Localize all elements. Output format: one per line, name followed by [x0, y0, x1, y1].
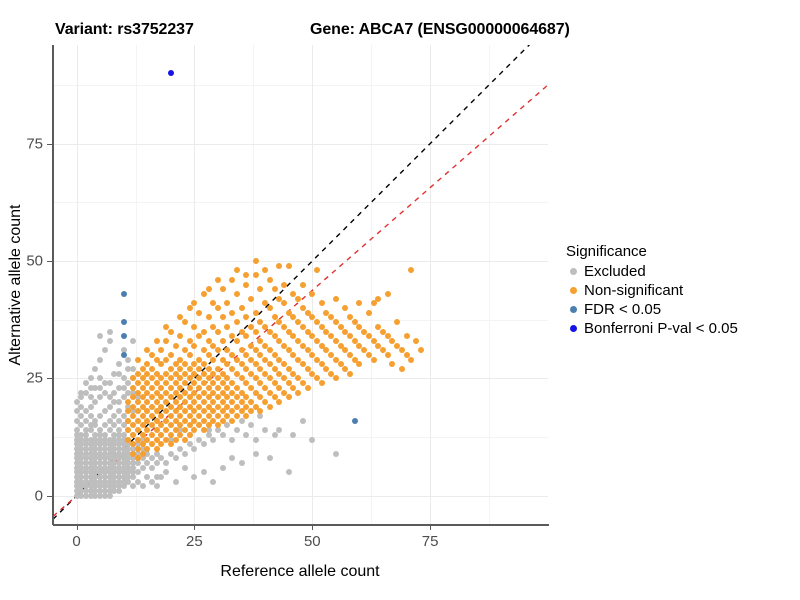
scatter-point	[121, 319, 127, 325]
x-axis-tick	[194, 525, 195, 530]
legend-items: ExcludedNon-significantFDR < 0.05Bonferr…	[566, 262, 796, 338]
scatter-point	[220, 432, 226, 438]
scatter-point	[286, 394, 292, 400]
scatter-point	[215, 305, 221, 311]
y-axis-tick-label: 0	[35, 487, 43, 504]
scatter-point	[187, 352, 193, 358]
scatter-point	[229, 418, 235, 424]
legend-item[interactable]: Bonferroni P-val < 0.05	[566, 319, 796, 338]
scatter-point	[201, 291, 207, 297]
scatter-point	[201, 329, 207, 335]
scatter-point	[191, 343, 197, 349]
scatter-point	[168, 352, 174, 358]
scatter-point	[102, 380, 108, 386]
legend-key-dot-icon	[570, 287, 577, 294]
scatter-point	[220, 286, 226, 292]
scatter-point	[154, 338, 160, 344]
legend-key-dot-icon	[570, 325, 577, 332]
scatter-point	[88, 394, 94, 400]
scatter-point	[253, 329, 259, 335]
scatter-point	[239, 305, 245, 311]
scatter-point	[253, 310, 259, 316]
y-axis-tick	[47, 378, 52, 379]
plot-root: Variant: rs3752237 Gene: ABCA7 (ENSG0000…	[0, 0, 800, 600]
legend: Significance ExcludedNon-significantFDR …	[566, 243, 796, 338]
legend-key-dot-icon	[570, 306, 577, 313]
scatter-point	[234, 427, 240, 433]
scatter-point	[371, 357, 377, 363]
scatter-point	[309, 437, 315, 443]
scatter-point	[220, 465, 226, 471]
y-axis-line	[52, 45, 54, 525]
scatter-point	[347, 371, 353, 377]
scatter-point	[107, 338, 113, 344]
scatter-point	[116, 371, 122, 377]
gene-title: Gene: ABCA7 (ENSG00000064687)	[310, 21, 570, 39]
scatter-point	[305, 385, 311, 391]
legend-item-label: FDR < 0.05	[584, 300, 661, 319]
scatter-point	[182, 437, 188, 443]
scatter-point	[234, 413, 240, 419]
scatter-point	[272, 286, 278, 292]
scatter-point	[295, 390, 301, 396]
scatter-point	[385, 352, 391, 358]
x-axis-tick	[312, 525, 313, 530]
x-axis-tick	[430, 525, 431, 530]
scatter-point	[173, 343, 179, 349]
scatter-point	[125, 437, 131, 443]
scatter-point	[267, 305, 273, 311]
y-axis-tick	[47, 261, 52, 262]
scatter-point	[130, 338, 136, 344]
scatter-point	[187, 305, 193, 311]
y-axis-tick-label: 75	[26, 135, 43, 152]
scatter-point	[253, 451, 259, 457]
scatter-point	[248, 296, 254, 302]
scatter-point	[215, 329, 221, 335]
y-axis-title: Alternative allele count	[7, 205, 25, 366]
scatter-point	[234, 291, 240, 297]
scatter-point	[281, 282, 287, 288]
scatter-point	[182, 465, 188, 471]
scatter-point	[210, 479, 216, 485]
variant-title: Variant: rs3752237	[55, 21, 194, 39]
scatter-point	[163, 357, 169, 363]
scatter-point	[163, 324, 169, 330]
scatter-point	[300, 282, 306, 288]
legend-item[interactable]: FDR < 0.05	[566, 300, 796, 319]
scatter-point	[300, 418, 306, 424]
x-axis-tick-label: 50	[304, 533, 321, 550]
scatter-point	[253, 272, 259, 278]
scatter-point	[295, 296, 301, 302]
scatter-point	[107, 329, 113, 335]
scatter-point	[210, 357, 216, 363]
scatter-point	[196, 310, 202, 316]
legend-item-label: Excluded	[584, 262, 646, 281]
scatter-point	[267, 277, 273, 283]
scatter-point	[182, 451, 188, 457]
legend-key-dot-icon	[570, 268, 577, 275]
scatter-point	[319, 380, 325, 386]
x-axis-tick	[77, 525, 78, 530]
scatter-point	[107, 394, 113, 400]
legend-item-label: Non-significant	[584, 281, 683, 300]
scatter-point	[121, 291, 127, 297]
scatter-point	[239, 460, 245, 466]
y-axis-tick	[47, 496, 52, 497]
scatter-point	[229, 277, 235, 283]
scatter-point	[385, 291, 391, 297]
x-axis-line	[53, 524, 549, 526]
scatter-point	[173, 479, 179, 485]
plot-panel	[53, 45, 548, 524]
scatter-point	[154, 460, 160, 466]
scatter-point	[78, 390, 84, 396]
scatter-point	[206, 286, 212, 292]
scatter-point	[399, 366, 405, 372]
scatter-point	[418, 347, 424, 353]
scatter-point	[404, 333, 410, 339]
scatter-point	[352, 418, 358, 424]
legend-item[interactable]: Non-significant	[566, 281, 796, 300]
scatter-point	[234, 319, 240, 325]
scatter-point	[168, 329, 174, 335]
scatter-point	[333, 451, 339, 457]
scatter-point	[116, 399, 122, 405]
scatter-point	[229, 437, 235, 443]
scatter-point	[121, 352, 127, 358]
scatter-point	[201, 427, 207, 433]
scatter-point	[121, 333, 127, 339]
scatter-point	[173, 455, 179, 461]
scatter-point	[97, 357, 103, 363]
scatter-point	[366, 310, 372, 316]
scatter-point	[276, 263, 282, 269]
scatter-point	[163, 338, 169, 344]
scatter-point	[97, 385, 103, 391]
legend-title: Significance	[566, 243, 796, 260]
scatter-point	[234, 338, 240, 344]
scatter-point	[408, 357, 414, 363]
legend-item-label: Bonferroni P-val < 0.05	[584, 319, 738, 338]
scatter-point	[413, 338, 419, 344]
y-axis-tick	[47, 144, 52, 145]
y-axis-tick-label: 50	[26, 253, 43, 270]
scatter-point	[371, 300, 377, 306]
scatter-point	[154, 446, 160, 452]
x-axis-title: Reference allele count	[220, 563, 379, 581]
x-axis-tick-label: 25	[186, 533, 203, 550]
x-axis-tick-label: 75	[422, 533, 439, 550]
scatter-point	[253, 437, 259, 443]
scatter-point	[243, 282, 249, 288]
scatter-point	[253, 258, 259, 264]
scatter-point	[229, 310, 235, 316]
scatter-point	[210, 437, 216, 443]
scatter-point	[333, 296, 339, 302]
scatter-point	[135, 357, 141, 363]
x-axis-tick-label: 0	[72, 533, 80, 550]
scatter-point	[220, 338, 226, 344]
scatter-point	[149, 465, 155, 471]
scatter-point	[267, 404, 273, 410]
scatter-point	[319, 300, 325, 306]
legend-item[interactable]: Excluded	[566, 262, 796, 281]
y-axis-tick-label: 25	[26, 370, 43, 387]
scatter-point	[215, 277, 221, 283]
scatter-point	[286, 263, 292, 269]
scatter-point	[286, 469, 292, 475]
